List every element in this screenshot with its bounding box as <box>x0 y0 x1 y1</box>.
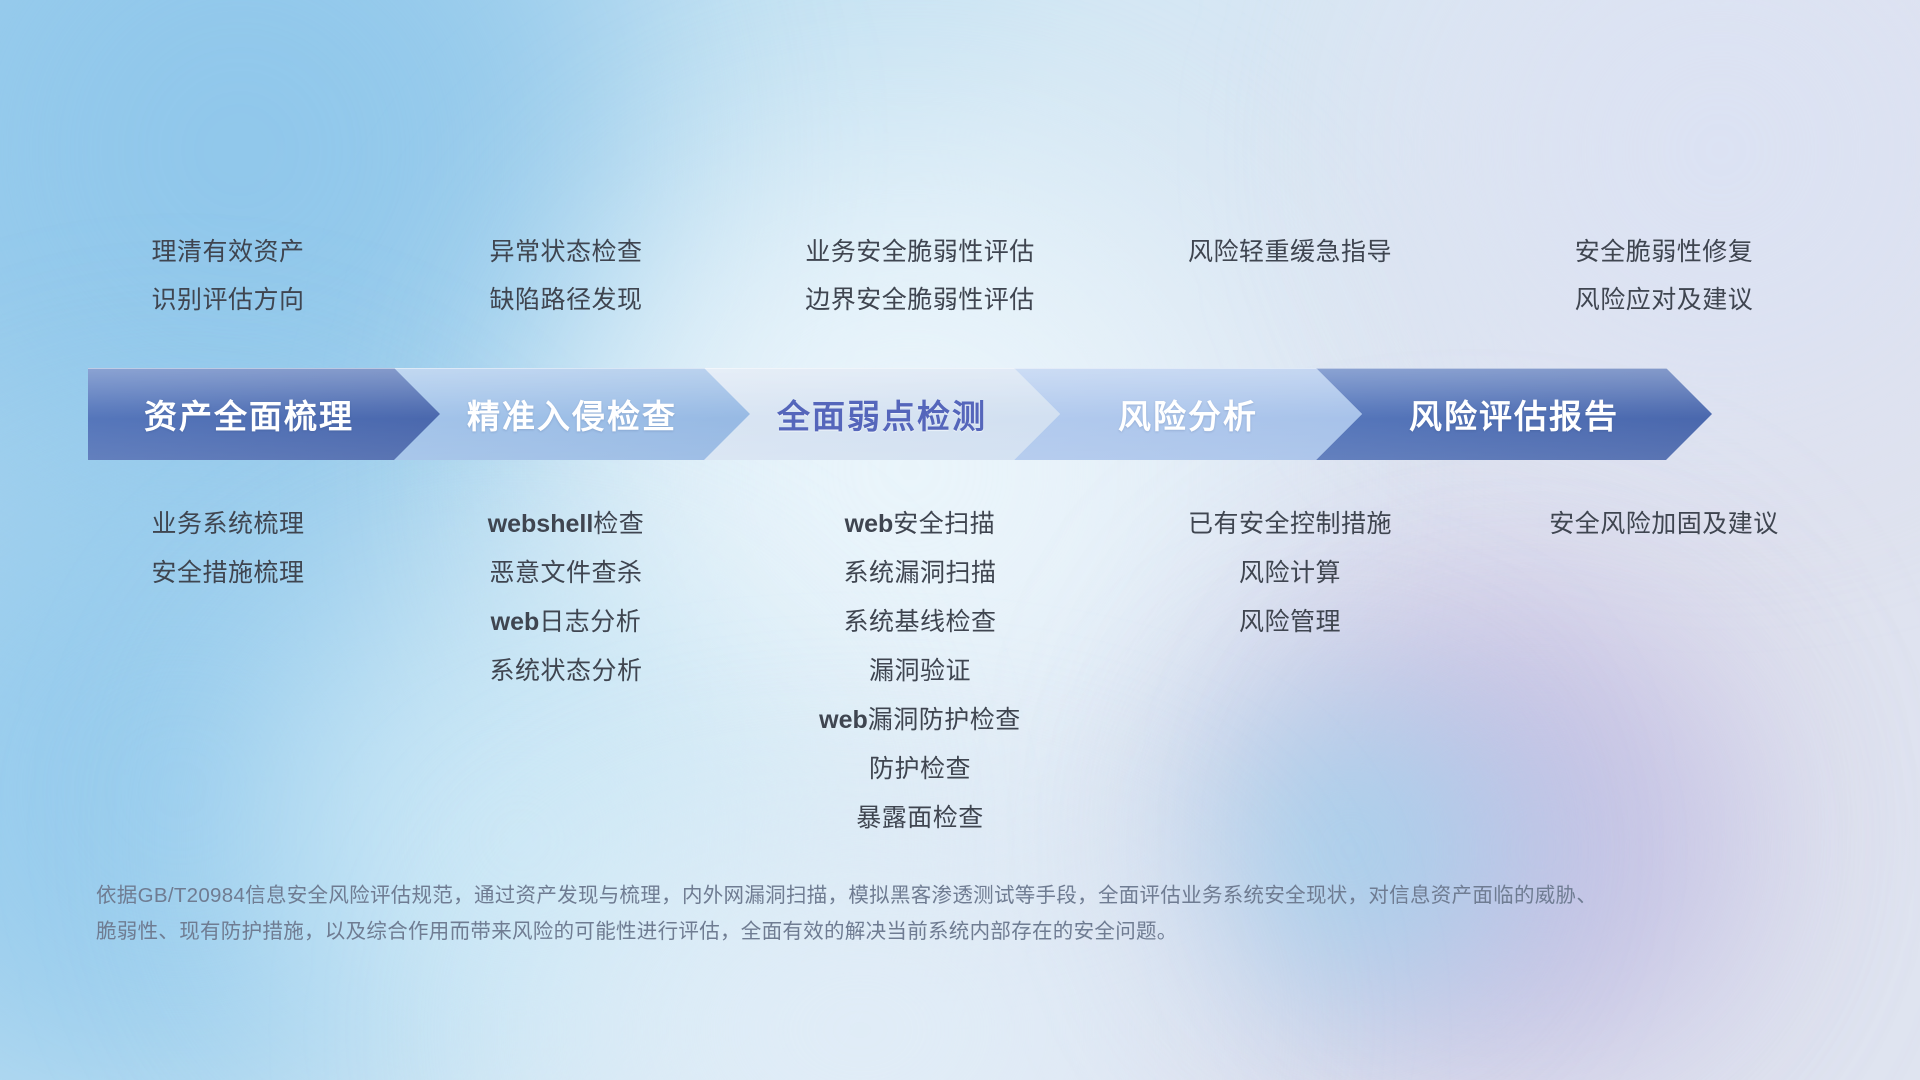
bottom-note-item: 已有安全控制措施 <box>1188 500 1392 549</box>
bottom-note-text: 暴露面检查 <box>856 804 984 832</box>
bottom-note-item: web日志分析 <box>491 598 642 647</box>
bottom-note-item: web安全扫描 <box>845 500 996 549</box>
bottom-note-item: 业务系统梳理 <box>151 500 304 549</box>
stage-title: 风险分析 <box>1118 390 1258 438</box>
bottom-note-text: 安全风险加固及建议 <box>1549 510 1779 538</box>
bottom-note-latin: web <box>845 510 894 538</box>
top-note-item: 理清有效资产 <box>151 228 304 276</box>
bottom-note-latin: web <box>491 608 540 636</box>
top-note-item: 缺陷路径发现 <box>489 276 642 324</box>
stage-title: 精准入侵检查 <box>467 390 677 438</box>
bottom-note-text: 业务系统梳理 <box>151 510 304 538</box>
bottom-note-text: 漏洞验证 <box>869 657 971 685</box>
bottom-note-latin: web <box>819 706 868 734</box>
stage-chevron-assessment-report[interactable]: 风险评估报告 <box>1316 368 1712 460</box>
top-note-item: 风险应对及建议 <box>1575 276 1754 324</box>
top-note-item: 安全脆弱性修复 <box>1575 228 1754 276</box>
stage-chevron-intrusion-check[interactable]: 精准入侵检查 <box>394 368 750 460</box>
top-note-item: 业务安全脆弱性评估 <box>805 228 1035 276</box>
stage-title: 全面弱点检测 <box>777 390 987 438</box>
bottom-note-text: 防护检查 <box>869 755 971 783</box>
top-note-item: 风险轻重缓急指导 <box>1188 228 1392 276</box>
stage-title: 风险评估报告 <box>1409 390 1619 438</box>
top-note-item: 异常状态检查 <box>489 228 642 276</box>
bottom-note-latin: webshell <box>488 510 594 538</box>
stage-chevron-asset-inventory[interactable]: 资产全面梳理 <box>88 368 440 460</box>
bottom-note-item: 漏洞验证 <box>869 647 971 696</box>
bottom-note-item: webshell检查 <box>488 500 645 549</box>
top-notes-assessment-report: 安全脆弱性修复风险应对及建议 <box>1444 228 1884 324</box>
bottom-note-text: 恶意文件查杀 <box>489 559 642 587</box>
bottom-note-item: web漏洞防护检查 <box>819 696 1021 745</box>
bottom-note-text: 安全扫描 <box>893 510 995 538</box>
bottom-note-text: 系统基线检查 <box>843 608 996 636</box>
footer-description: 依据GB/T20984信息安全风险评估规范，通过资产发现与梳理，内外网漏洞扫描，… <box>96 878 1616 950</box>
bottom-notes-assessment-report: 安全风险加固及建议 <box>1444 500 1884 549</box>
bottom-note-text: 日志分析 <box>539 608 641 636</box>
top-note-item: 识别评估方向 <box>151 276 304 324</box>
bottom-note-text: 系统状态分析 <box>489 657 642 685</box>
bottom-note-item: 暴露面检查 <box>856 794 984 843</box>
bottom-note-item: 系统漏洞扫描 <box>843 549 996 598</box>
bottom-note-item: 安全风险加固及建议 <box>1549 500 1779 549</box>
top-note-item: 边界安全脆弱性评估 <box>805 276 1035 324</box>
stage-chevron-risk-analysis[interactable]: 风险分析 <box>1014 368 1362 460</box>
bottom-note-item: 系统基线检查 <box>843 598 996 647</box>
bottom-note-text: 检查 <box>593 510 644 538</box>
bottom-note-text: 风险计算 <box>1239 559 1341 587</box>
bottom-note-item: 系统状态分析 <box>489 647 642 696</box>
bottom-note-item: 防护检查 <box>869 745 971 794</box>
bottom-note-text: 风险管理 <box>1239 608 1341 636</box>
bottom-note-item: 风险计算 <box>1239 549 1341 598</box>
stage-title: 资产全面梳理 <box>144 390 354 438</box>
bottom-note-text: 漏洞防护检查 <box>868 706 1021 734</box>
bottom-note-item: 风险管理 <box>1239 598 1341 647</box>
process-chevron-band: 资产全面梳理精准入侵检查全面弱点检测风险分析风险评估报告 <box>88 368 1848 460</box>
bottom-note-text: 已有安全控制措施 <box>1188 510 1392 538</box>
bottom-note-item: 安全措施梳理 <box>151 549 304 598</box>
bottom-note-item: 恶意文件查杀 <box>489 549 642 598</box>
stage-chevron-weakness-detection[interactable]: 全面弱点检测 <box>704 368 1060 460</box>
bottom-note-text: 安全措施梳理 <box>151 559 304 587</box>
bottom-note-text: 系统漏洞扫描 <box>843 559 996 587</box>
